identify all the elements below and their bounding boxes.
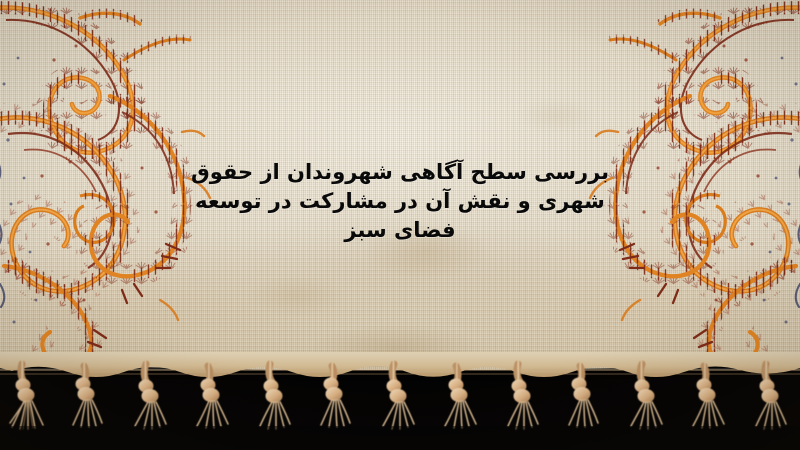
title-line-2: شهری و نقش آن در مشارکت در توسعه xyxy=(0,187,800,216)
title-line-3: فضای سبز xyxy=(0,216,800,245)
slide-title: بررسی سطح آگاهی شهروندان از حقوق شهری و … xyxy=(0,158,800,245)
title-line-1: بررسی سطح آگاهی شهروندان از حقوق xyxy=(0,158,800,187)
slide-canvas: بررسی سطح آگاهی شهروندان از حقوق شهری و … xyxy=(0,0,800,450)
